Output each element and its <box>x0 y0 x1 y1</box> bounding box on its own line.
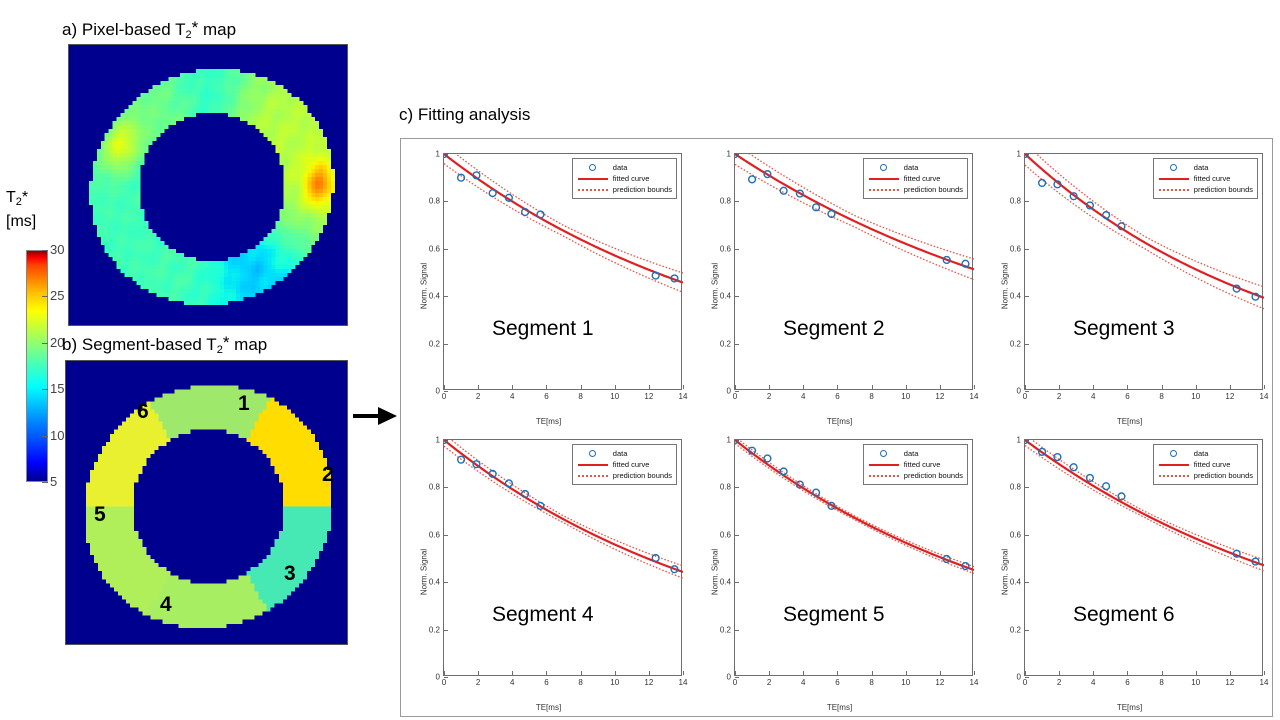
x-tick-label: 12 <box>641 678 657 687</box>
segment-number-2: 2 <box>322 463 334 487</box>
panel-c-title: c) Fitting analysis <box>399 105 530 125</box>
x-tick-label: 0 <box>727 678 743 687</box>
y-tick-label: 0.8 <box>418 197 440 206</box>
legend-circ-icon <box>576 450 610 457</box>
legend-label: prediction bounds <box>1191 185 1253 194</box>
legend-line-icon <box>867 178 901 180</box>
y-tick-label: 1 <box>418 436 440 445</box>
segment-number-5: 5 <box>94 503 106 527</box>
x-tick-mark <box>1264 385 1265 389</box>
y-tick-label: 0.2 <box>418 339 440 348</box>
plot-legend: datafitted curveprediction bounds <box>572 444 677 485</box>
x-tick-label: 4 <box>1085 678 1101 687</box>
segment-number-4: 4 <box>160 593 172 617</box>
x-tick-mark <box>974 671 975 675</box>
legend-entry: data <box>1157 162 1253 173</box>
y-tick-label: 0.4 <box>418 292 440 301</box>
x-tick-label: 10 <box>1188 678 1204 687</box>
x-tick-mark <box>974 385 975 389</box>
plot-axes: 00.20.40.60.8102468101214datafitted curv… <box>443 153 682 390</box>
colorbar-tick-label: 5 <box>50 474 57 489</box>
legend-label: data <box>610 163 628 172</box>
plot-segment-6: Norm. SignalTE[ms]00.20.40.60.8102468101… <box>984 427 1275 716</box>
x-axis-label: TE[ms] <box>403 417 694 426</box>
colorbar-units: [ms] <box>6 213 36 230</box>
legend-line-icon <box>867 464 901 466</box>
x-tick-label: 8 <box>1154 392 1170 401</box>
panel-b-label: b) <box>62 335 77 354</box>
plot-segment-5: Norm. SignalTE[ms]00.20.40.60.8102468101… <box>694 427 985 716</box>
y-tick-label: 0.2 <box>999 625 1021 634</box>
plot-axes: 00.20.40.60.8102468101214datafitted curv… <box>734 439 973 676</box>
segment-number-1: 1 <box>238 392 250 416</box>
y-tick-label: 0.6 <box>709 244 731 253</box>
x-axis-label: TE[ms] <box>694 417 985 426</box>
x-tick-label: 0 <box>727 392 743 401</box>
legend-label: data <box>1191 449 1209 458</box>
colorbar-tick-mark <box>42 389 48 390</box>
pixel-based-t2star-map <box>68 44 348 326</box>
legend-label: fitted curve <box>610 174 650 183</box>
x-tick-label: 4 <box>504 392 520 401</box>
legend-entry: prediction bounds <box>1157 184 1253 195</box>
legend-entry: fitted curve <box>1157 173 1253 184</box>
legend-circ-icon <box>1157 164 1191 171</box>
x-tick-label: 4 <box>795 678 811 687</box>
plot-axes: 00.20.40.60.8102468101214datafitted curv… <box>1024 439 1263 676</box>
colorbar-tick-label: 15 <box>50 381 64 396</box>
plot-legend: datafitted curveprediction bounds <box>1153 158 1258 199</box>
x-tick-label: 10 <box>898 392 914 401</box>
colorbar-label-t: T <box>6 189 16 206</box>
x-tick-label: 10 <box>1188 392 1204 401</box>
data-point <box>749 176 756 183</box>
plot-axes: 00.20.40.60.8102468101214datafitted curv… <box>734 153 973 390</box>
x-tick-label: 2 <box>761 678 777 687</box>
x-tick-label: 12 <box>932 392 948 401</box>
x-tick-label: 14 <box>675 392 691 401</box>
x-axis-label: TE[ms] <box>984 703 1275 712</box>
x-tick-label: 8 <box>864 678 880 687</box>
y-tick-label: 0.6 <box>418 530 440 539</box>
colorbar-tick-label: 10 <box>50 428 64 443</box>
colorbar-tick-label: 25 <box>50 288 64 303</box>
legend-circ-icon <box>1157 450 1191 457</box>
legend-entry: prediction bounds <box>867 184 963 195</box>
x-axis-label: TE[ms] <box>984 417 1275 426</box>
data-point <box>764 455 771 462</box>
legend-dot-icon <box>867 189 901 191</box>
plot-segment-3: Norm. SignalTE[ms]00.20.40.60.8102468101… <box>984 141 1275 430</box>
y-tick-label: 0.4 <box>999 578 1021 587</box>
x-tick-label: 6 <box>538 392 554 401</box>
x-tick-mark <box>1264 671 1265 675</box>
y-axis-label: Norm. Signal <box>711 262 720 308</box>
x-tick-label: 14 <box>966 678 982 687</box>
y-axis-label: Norm. Signal <box>1001 548 1010 594</box>
y-axis-label: Norm. Signal <box>420 262 429 308</box>
y-tick-label: 0.4 <box>999 292 1021 301</box>
legend-dot-icon <box>1157 475 1191 477</box>
y-tick-label: 0.8 <box>999 483 1021 492</box>
legend-dot-icon <box>576 189 610 191</box>
plot-legend: datafitted curveprediction bounds <box>863 444 968 485</box>
x-tick-label: 14 <box>675 678 691 687</box>
legend-entry: fitted curve <box>867 459 963 470</box>
legend-line-icon <box>576 464 610 466</box>
plot-legend: datafitted curveprediction bounds <box>1153 444 1258 485</box>
x-tick-label: 10 <box>607 678 623 687</box>
plot-segment-title: Segment 1 <box>492 317 594 341</box>
plot-segment-title: Segment 4 <box>492 603 594 627</box>
panel-a-title: a) Pixel-based T2* map <box>62 18 236 41</box>
y-tick-label: 1 <box>999 436 1021 445</box>
y-tick-label: 1 <box>709 436 731 445</box>
legend-entry: fitted curve <box>867 173 963 184</box>
x-tick-label: 8 <box>864 392 880 401</box>
legend-dot-icon <box>1157 189 1191 191</box>
data-point <box>1070 464 1077 471</box>
panel-a-title-suffix: map <box>198 20 236 39</box>
legend-circ-icon <box>576 164 610 171</box>
segment-based-t2star-map <box>65 360 348 645</box>
data-point <box>1039 180 1046 187</box>
x-tick-label: 0 <box>436 392 452 401</box>
x-tick-label: 14 <box>1256 678 1272 687</box>
colorbar-tick-mark <box>42 436 48 437</box>
x-tick-label: 0 <box>436 678 452 687</box>
y-tick-label: 1 <box>999 150 1021 159</box>
legend-label: data <box>901 163 919 172</box>
colorbar: 30252015105 <box>26 250 48 482</box>
legend-line-icon <box>576 178 610 180</box>
legend-label: prediction bounds <box>610 185 672 194</box>
x-tick-label: 10 <box>607 392 623 401</box>
y-axis-label: Norm. Signal <box>420 548 429 594</box>
x-tick-label: 4 <box>1085 392 1101 401</box>
colorbar-tick-mark <box>42 482 48 483</box>
y-tick-label: 0.6 <box>709 530 731 539</box>
x-tick-mark <box>683 385 684 389</box>
legend-label: fitted curve <box>1191 460 1231 469</box>
legend-line-icon <box>1157 464 1191 466</box>
y-tick-label: 0.4 <box>709 578 731 587</box>
x-axis-label: TE[ms] <box>403 703 694 712</box>
y-tick-label: 0.4 <box>418 578 440 587</box>
panel-a-label: a) <box>62 20 77 39</box>
x-tick-label: 6 <box>829 678 845 687</box>
legend-entry: data <box>576 448 672 459</box>
x-tick-label: 6 <box>829 392 845 401</box>
y-tick-label: 0.6 <box>999 530 1021 539</box>
legend-label: fitted curve <box>610 460 650 469</box>
legend-circ-icon <box>867 450 901 457</box>
plot-segment-title: Segment 6 <box>1073 603 1175 627</box>
x-tick-label: 8 <box>1154 678 1170 687</box>
x-tick-label: 12 <box>932 678 948 687</box>
legend-entry: prediction bounds <box>867 470 963 481</box>
legend-label: prediction bounds <box>1191 471 1253 480</box>
x-tick-label: 0 <box>1017 678 1033 687</box>
y-tick-label: 0.6 <box>418 244 440 253</box>
legend-entry: fitted curve <box>576 173 672 184</box>
plot-segment-title: Segment 5 <box>783 603 885 627</box>
y-tick-label: 0.2 <box>709 339 731 348</box>
plot-axes: 00.20.40.60.8102468101214datafitted curv… <box>443 439 682 676</box>
y-tick-label: 0.2 <box>709 625 731 634</box>
x-tick-label: 6 <box>538 678 554 687</box>
y-tick-label: 1 <box>418 150 440 159</box>
x-tick-label: 2 <box>761 392 777 401</box>
colorbar-label-ast: * <box>22 189 28 206</box>
y-tick-label: 0.8 <box>418 483 440 492</box>
x-tick-label: 2 <box>1051 392 1067 401</box>
legend-entry: fitted curve <box>1157 459 1253 470</box>
legend-dot-icon <box>867 475 901 477</box>
y-tick-label: 0.2 <box>999 339 1021 348</box>
legend-entry: prediction bounds <box>1157 470 1253 481</box>
panel-b-title-suffix: map <box>229 335 267 354</box>
data-point <box>489 190 496 197</box>
segment-number-6: 6 <box>137 400 149 424</box>
legend-line-icon <box>1157 178 1191 180</box>
legend-entry: data <box>867 162 963 173</box>
x-tick-label: 2 <box>1051 678 1067 687</box>
legend-label: fitted curve <box>901 174 941 183</box>
legend-circ-icon <box>867 164 901 171</box>
y-tick-label: 0.6 <box>999 244 1021 253</box>
y-tick-label: 0.2 <box>418 625 440 634</box>
y-tick-label: 0.8 <box>999 197 1021 206</box>
x-tick-label: 12 <box>1222 678 1238 687</box>
panel-b-title-text: Segment-based T <box>82 335 217 354</box>
legend-label: prediction bounds <box>901 185 963 194</box>
legend-label: data <box>610 449 628 458</box>
colorbar-tick-mark <box>42 296 48 297</box>
x-tick-label: 4 <box>504 678 520 687</box>
x-tick-label: 14 <box>966 392 982 401</box>
colorbar-gradient <box>26 250 48 482</box>
legend-label: data <box>1191 163 1209 172</box>
plot-segment-1: Norm. SignalTE[ms]00.20.40.60.8102468101… <box>403 141 694 430</box>
y-tick-label: 1 <box>709 150 731 159</box>
y-tick-label: 0.8 <box>709 483 731 492</box>
data-point <box>537 211 544 218</box>
plot-axes: 00.20.40.60.8102468101214datafitted curv… <box>1024 153 1263 390</box>
x-tick-label: 0 <box>1017 392 1033 401</box>
x-tick-label: 8 <box>573 678 589 687</box>
legend-entry: prediction bounds <box>576 470 672 481</box>
colorbar-tick-label: 30 <box>50 242 64 257</box>
legend-entry: fitted curve <box>576 459 672 470</box>
legend-dot-icon <box>576 475 610 477</box>
x-tick-label: 6 <box>1119 392 1135 401</box>
y-tick-label: 0.8 <box>709 197 731 206</box>
x-tick-label: 8 <box>573 392 589 401</box>
colorbar-label: T2* [ms] <box>6 188 36 232</box>
legend-entry: data <box>576 162 672 173</box>
x-tick-label: 2 <box>470 678 486 687</box>
segment-number-3: 3 <box>284 562 296 586</box>
legend-label: data <box>901 449 919 458</box>
legend-label: prediction bounds <box>901 471 963 480</box>
plot-legend: datafitted curveprediction bounds <box>863 158 968 199</box>
y-axis-label: Norm. Signal <box>711 548 720 594</box>
legend-entry: data <box>867 448 963 459</box>
x-tick-mark <box>683 671 684 675</box>
data-point <box>1103 483 1110 490</box>
legend-entry: prediction bounds <box>576 184 672 195</box>
y-axis-label: Norm. Signal <box>1001 262 1010 308</box>
colorbar-tick-mark <box>42 343 48 344</box>
plot-segment-title: Segment 2 <box>783 317 885 341</box>
x-tick-label: 12 <box>641 392 657 401</box>
x-tick-label: 10 <box>898 678 914 687</box>
legend-label: fitted curve <box>1191 174 1231 183</box>
plot-segment-4: Norm. SignalTE[ms]00.20.40.60.8102468101… <box>403 427 694 716</box>
fitting-analysis-panel: Norm. SignalTE[ms]00.20.40.60.8102468101… <box>400 138 1273 717</box>
plot-segment-title: Segment 3 <box>1073 317 1175 341</box>
flow-arrow-icon <box>352 405 398 427</box>
x-axis-label: TE[ms] <box>694 703 985 712</box>
x-tick-label: 2 <box>470 392 486 401</box>
panel-a-title-text: Pixel-based T <box>82 20 186 39</box>
x-tick-label: 14 <box>1256 392 1272 401</box>
data-point <box>780 187 787 194</box>
legend-label: prediction bounds <box>610 471 672 480</box>
panel-b-title: b) Segment-based T2* map <box>62 333 267 356</box>
x-tick-label: 4 <box>795 392 811 401</box>
x-tick-label: 12 <box>1222 392 1238 401</box>
plot-segment-2: Norm. SignalTE[ms]00.20.40.60.8102468101… <box>694 141 985 430</box>
plot-legend: datafitted curveprediction bounds <box>572 158 677 199</box>
y-tick-label: 0.4 <box>709 292 731 301</box>
legend-entry: data <box>1157 448 1253 459</box>
legend-label: fitted curve <box>901 460 941 469</box>
x-tick-label: 6 <box>1119 678 1135 687</box>
colorbar-tick-mark <box>42 250 48 251</box>
